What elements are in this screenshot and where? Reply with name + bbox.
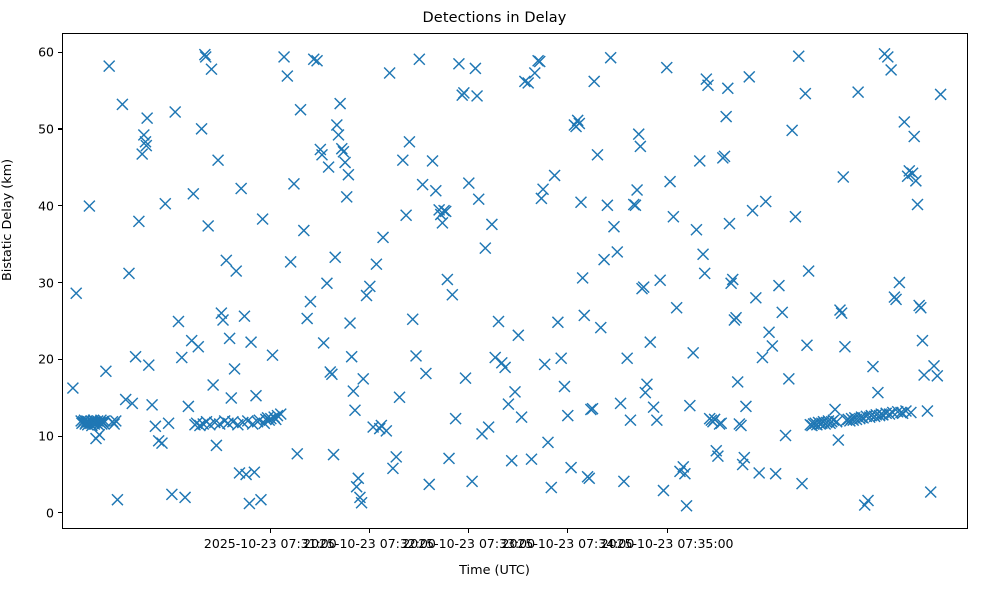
data-point xyxy=(587,403,598,414)
data-point xyxy=(506,455,517,466)
data-point xyxy=(665,176,676,187)
data-point xyxy=(684,400,695,411)
data-point xyxy=(575,197,586,208)
data-point xyxy=(886,64,897,75)
data-point xyxy=(830,404,841,415)
data-point xyxy=(417,179,428,190)
y-tick-label: 10 xyxy=(20,429,54,444)
data-point xyxy=(295,104,306,115)
data-point xyxy=(345,318,356,329)
data-point xyxy=(727,274,738,285)
data-point xyxy=(143,360,154,371)
data-point xyxy=(84,201,95,212)
data-point xyxy=(127,398,138,409)
data-point xyxy=(534,56,545,67)
data-point xyxy=(208,380,219,391)
y-tick-label: 60 xyxy=(20,45,54,60)
x-tick-mark xyxy=(468,529,469,533)
data-point xyxy=(899,116,910,127)
data-point xyxy=(589,76,600,87)
data-point xyxy=(318,337,329,348)
data-point xyxy=(67,383,78,394)
data-point xyxy=(218,315,229,326)
data-point xyxy=(691,224,702,235)
data-point xyxy=(922,406,933,417)
data-point xyxy=(391,451,402,462)
data-point xyxy=(592,149,603,160)
data-point xyxy=(625,415,636,426)
data-point xyxy=(539,359,550,370)
data-point xyxy=(500,362,511,373)
data-point xyxy=(740,401,751,412)
data-point xyxy=(442,274,453,285)
data-point xyxy=(912,199,923,210)
data-point xyxy=(71,288,82,299)
data-point xyxy=(722,83,733,94)
data-point xyxy=(193,341,204,352)
data-point xyxy=(305,296,316,307)
data-point xyxy=(633,129,644,140)
data-point xyxy=(732,376,743,387)
data-point xyxy=(618,476,629,487)
data-point xyxy=(430,185,441,196)
data-point xyxy=(770,468,781,479)
data-point xyxy=(872,387,883,398)
data-point xyxy=(251,390,262,401)
data-point xyxy=(224,333,235,344)
plot-axes xyxy=(62,33,968,529)
data-point xyxy=(346,351,357,362)
data-point xyxy=(401,210,412,221)
data-point xyxy=(341,191,352,202)
data-point xyxy=(378,232,389,243)
data-point xyxy=(463,178,474,189)
data-point xyxy=(538,184,549,195)
data-point xyxy=(282,71,293,82)
data-point xyxy=(241,469,252,480)
data-point xyxy=(330,252,341,263)
data-point xyxy=(559,381,570,392)
data-point xyxy=(797,478,808,489)
data-point xyxy=(716,418,727,429)
data-point xyxy=(292,448,303,459)
data-point xyxy=(420,368,431,379)
data-point xyxy=(648,402,659,413)
data-point xyxy=(724,218,735,229)
data-point xyxy=(231,266,242,277)
data-point xyxy=(681,500,692,511)
data-point xyxy=(668,211,679,222)
data-point xyxy=(424,479,435,490)
data-point xyxy=(364,281,375,292)
data-point xyxy=(246,337,257,348)
data-point xyxy=(894,277,905,288)
data-point xyxy=(800,88,811,99)
data-point xyxy=(599,254,610,265)
data-point xyxy=(764,327,775,338)
data-point xyxy=(651,415,662,426)
data-point xyxy=(549,170,560,181)
data-point xyxy=(757,352,768,363)
data-point xyxy=(622,353,633,364)
data-point xyxy=(404,136,415,147)
data-point xyxy=(120,394,131,405)
data-point xyxy=(180,492,191,503)
data-point xyxy=(605,52,616,63)
data-point xyxy=(472,90,483,101)
data-point xyxy=(427,155,438,166)
data-point xyxy=(411,350,422,361)
data-point xyxy=(150,421,161,432)
data-point xyxy=(188,188,199,199)
data-point xyxy=(490,352,501,363)
data-point xyxy=(470,63,481,74)
data-point xyxy=(773,280,784,291)
data-point xyxy=(839,341,850,352)
data-point xyxy=(556,353,567,364)
data-point xyxy=(698,249,709,260)
data-point xyxy=(340,157,351,168)
y-tick-label: 20 xyxy=(20,352,54,367)
data-point xyxy=(173,316,184,327)
data-point xyxy=(483,422,494,433)
data-point xyxy=(267,350,278,361)
data-point xyxy=(397,155,408,166)
data-point xyxy=(353,473,364,484)
data-point xyxy=(688,347,699,358)
data-point xyxy=(384,68,395,79)
data-point xyxy=(130,351,141,362)
data-point xyxy=(632,185,643,196)
data-point xyxy=(577,272,588,283)
data-point xyxy=(444,453,455,464)
data-point xyxy=(917,335,928,346)
data-point xyxy=(493,316,504,327)
data-point xyxy=(331,120,342,131)
data-point xyxy=(739,452,750,463)
data-point xyxy=(552,317,563,328)
data-point xyxy=(170,107,181,118)
data-point xyxy=(760,196,771,207)
data-point xyxy=(747,205,758,216)
y-axis-label: Bistatic Delay (km) xyxy=(0,159,15,281)
data-point xyxy=(526,454,537,465)
data-point xyxy=(279,51,290,62)
data-point xyxy=(694,155,705,166)
data-point xyxy=(387,463,398,474)
data-point xyxy=(867,361,878,372)
data-point xyxy=(323,162,334,173)
data-point xyxy=(566,462,577,473)
data-point xyxy=(925,487,936,498)
x-tick-mark xyxy=(369,529,370,533)
data-point xyxy=(635,141,646,152)
data-point xyxy=(510,386,521,397)
data-point xyxy=(615,398,626,409)
data-point xyxy=(661,62,672,73)
data-point xyxy=(529,68,540,79)
data-point xyxy=(909,131,920,142)
data-point xyxy=(658,485,669,496)
data-point xyxy=(196,123,207,134)
data-point xyxy=(244,498,255,509)
data-point xyxy=(641,379,652,390)
data-point xyxy=(602,200,613,211)
data-point xyxy=(285,256,296,267)
data-point xyxy=(744,71,755,82)
data-point xyxy=(358,373,369,384)
x-tick-label: 2025-10-23 07:35:00 xyxy=(601,536,734,551)
data-point xyxy=(414,54,425,65)
x-tick-mark xyxy=(270,529,271,533)
data-point xyxy=(721,111,732,122)
data-point xyxy=(480,243,491,254)
data-point xyxy=(450,413,461,424)
data-point xyxy=(595,322,606,333)
data-point xyxy=(94,429,105,440)
data-point xyxy=(460,373,471,384)
data-point xyxy=(142,113,153,124)
data-point-markers xyxy=(67,48,946,511)
data-point xyxy=(486,219,497,230)
data-point xyxy=(853,87,864,98)
data-point xyxy=(793,51,804,62)
data-point xyxy=(803,266,814,277)
y-tick-label: 0 xyxy=(20,505,54,520)
data-point xyxy=(513,330,524,341)
data-point xyxy=(447,289,458,300)
data-point xyxy=(863,495,874,506)
data-point xyxy=(935,89,946,100)
data-point xyxy=(302,313,313,324)
data-point xyxy=(371,259,382,270)
data-point xyxy=(671,302,682,313)
data-point xyxy=(333,129,344,140)
data-point xyxy=(104,61,115,72)
data-point xyxy=(156,438,167,449)
data-point xyxy=(133,216,144,227)
data-point xyxy=(123,268,134,279)
x-tick-mark xyxy=(667,529,668,533)
data-point xyxy=(147,399,158,410)
data-point xyxy=(236,183,247,194)
data-point xyxy=(833,435,844,446)
data-point xyxy=(783,373,794,384)
y-tick-label: 30 xyxy=(20,275,54,290)
data-point xyxy=(257,214,268,225)
scatter-series xyxy=(63,34,967,528)
data-point xyxy=(321,278,332,289)
data-point xyxy=(407,314,418,325)
data-point xyxy=(163,418,174,429)
data-point xyxy=(790,211,801,222)
data-point xyxy=(919,370,930,381)
data-point xyxy=(787,125,798,136)
matplotlib-figure: Detections in Delay Bistatic Delay (km) … xyxy=(0,0,989,590)
data-point xyxy=(932,370,943,381)
x-tick-mark xyxy=(567,529,568,533)
data-point xyxy=(546,482,557,493)
data-point xyxy=(213,155,224,166)
data-point xyxy=(543,437,554,448)
data-point xyxy=(929,360,940,371)
data-point xyxy=(882,51,893,62)
data-point xyxy=(467,476,478,487)
data-point xyxy=(679,468,690,479)
data-point xyxy=(579,310,590,321)
data-point xyxy=(335,98,346,109)
data-point xyxy=(612,246,623,257)
data-point xyxy=(645,337,656,348)
y-tick-label: 40 xyxy=(20,198,54,213)
data-point xyxy=(801,340,812,351)
data-point xyxy=(255,494,266,505)
data-point xyxy=(349,405,360,416)
data-point xyxy=(328,449,339,460)
data-point xyxy=(608,221,619,232)
data-point xyxy=(166,489,177,500)
data-point xyxy=(100,366,111,377)
data-point xyxy=(183,401,194,412)
data-point xyxy=(249,467,260,478)
data-point xyxy=(780,430,791,441)
data-point xyxy=(203,220,214,231)
data-point xyxy=(754,467,765,478)
x-axis-label: Time (UTC) xyxy=(0,563,989,578)
page-title: Detections in Delay xyxy=(0,10,989,26)
data-point xyxy=(655,275,666,286)
data-point xyxy=(239,311,250,322)
data-point xyxy=(229,363,240,374)
data-point xyxy=(112,494,123,505)
data-point xyxy=(206,64,217,75)
data-point xyxy=(503,399,514,410)
data-point xyxy=(726,278,737,289)
data-point xyxy=(767,341,778,352)
data-point xyxy=(440,206,451,217)
data-point xyxy=(361,290,372,301)
data-point xyxy=(160,198,171,209)
data-point xyxy=(453,58,464,69)
data-point xyxy=(516,412,527,423)
data-point xyxy=(437,217,448,228)
data-point xyxy=(288,178,299,189)
data-point xyxy=(298,225,309,236)
data-point xyxy=(562,410,573,421)
data-point xyxy=(699,268,710,279)
y-tick-label: 50 xyxy=(20,121,54,136)
data-point xyxy=(473,194,484,205)
data-point xyxy=(117,99,128,110)
data-point xyxy=(221,255,232,266)
data-point xyxy=(226,393,237,404)
data-point xyxy=(343,169,354,180)
data-point xyxy=(750,292,761,303)
data-point xyxy=(777,307,788,318)
data-point xyxy=(348,386,359,397)
data-point xyxy=(176,352,187,363)
data-point xyxy=(394,392,405,403)
data-point xyxy=(211,440,222,451)
data-point xyxy=(838,172,849,183)
data-point xyxy=(630,200,641,211)
